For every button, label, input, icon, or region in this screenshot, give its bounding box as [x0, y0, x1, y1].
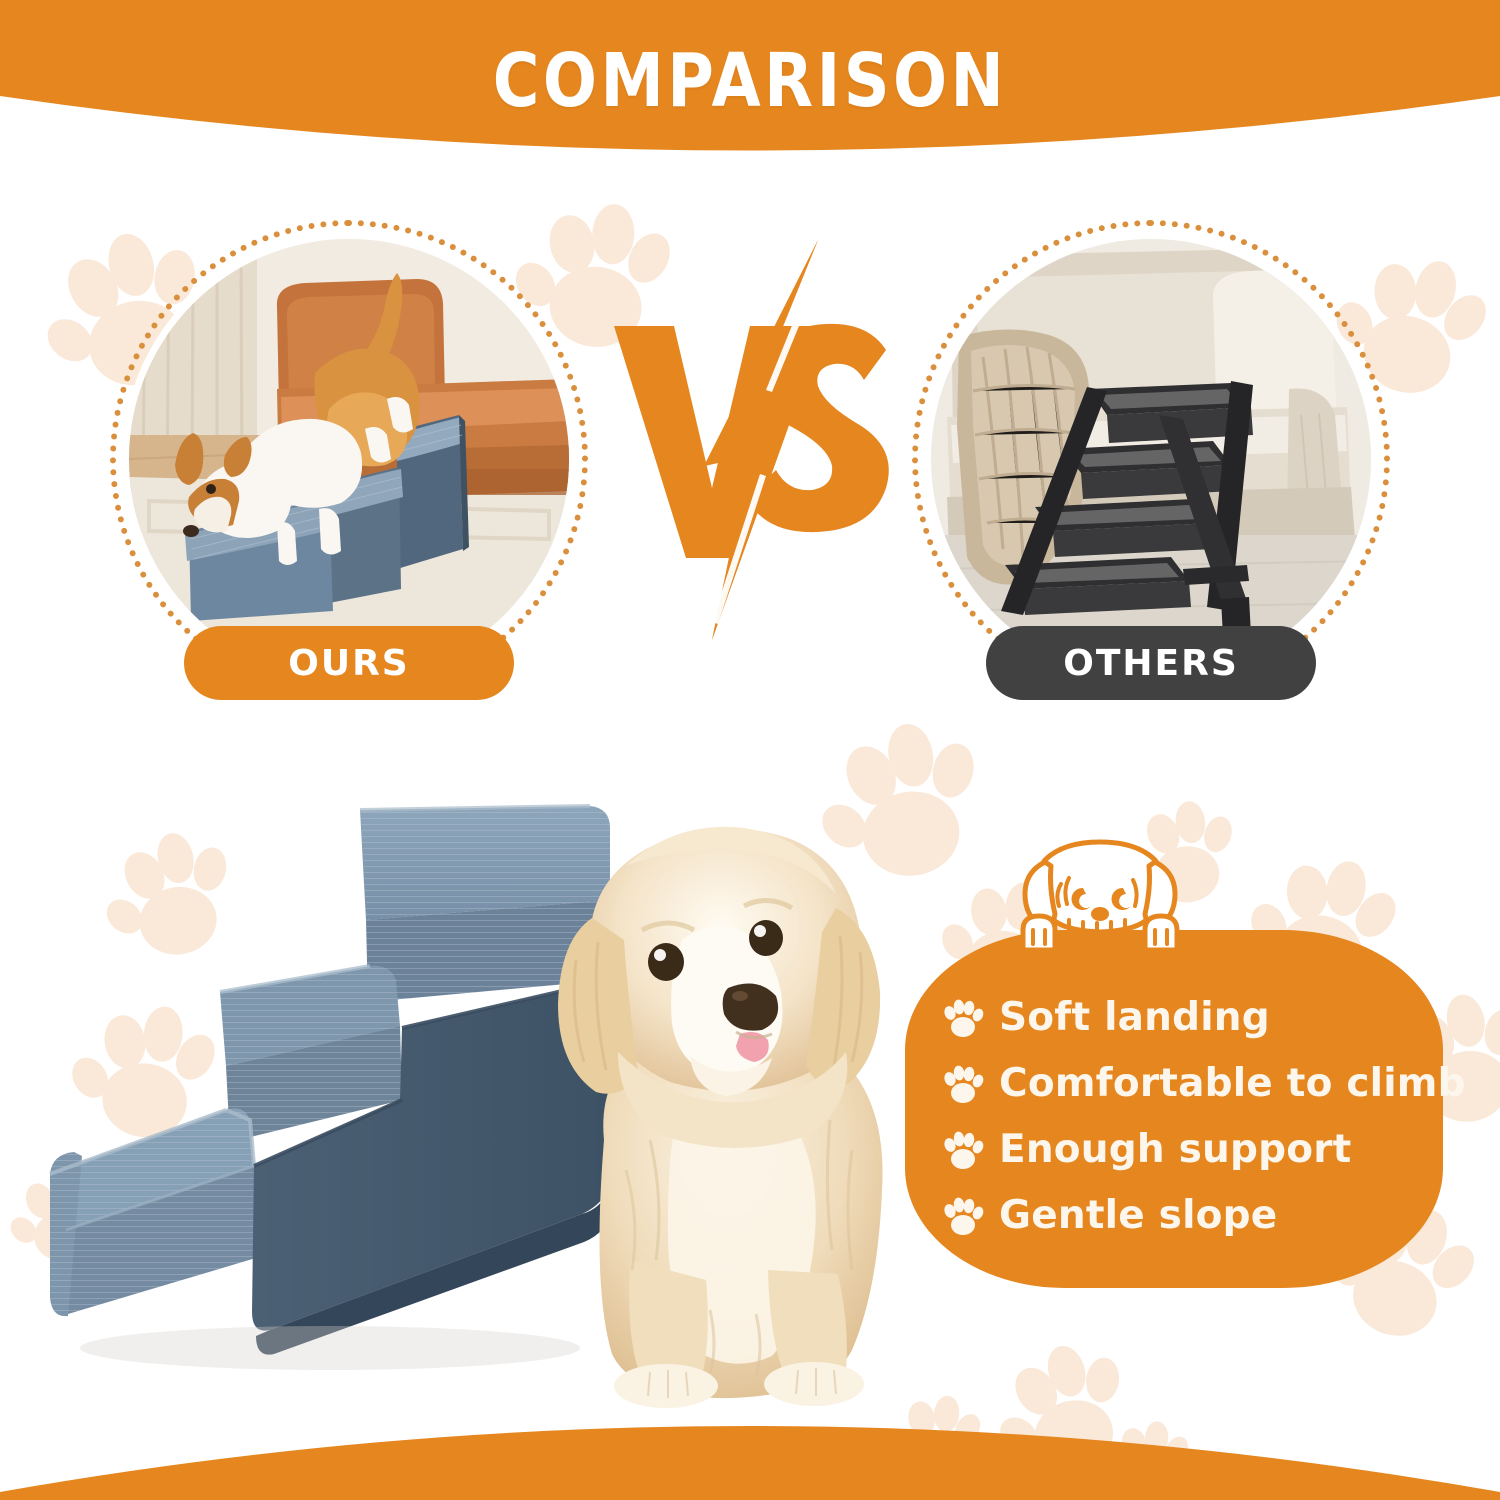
- comparison-card-ours[interactable]: OURS: [110, 220, 588, 698]
- list-item[interactable]: Soft landing: [941, 984, 1441, 1050]
- infographic-canvas: COMPARISON: [0, 0, 1500, 1500]
- footer-banner: [0, 1370, 1500, 1500]
- versus-icon: [600, 240, 920, 640]
- page-title: COMPARISON: [105, 38, 1395, 124]
- features-panel: Soft landing Comfortable to climb: [905, 930, 1443, 1288]
- feature-label: Gentle slope: [999, 1193, 1277, 1238]
- list-item[interactable]: Gentle slope: [941, 1182, 1441, 1248]
- list-item[interactable]: Enough support: [941, 1116, 1441, 1182]
- ours-photo: [129, 239, 569, 679]
- comparison-card-others[interactable]: OTHERS: [912, 220, 1390, 698]
- paw-print-icon: [941, 995, 985, 1039]
- others-label: OTHERS: [986, 626, 1316, 700]
- feature-label: Soft landing: [999, 995, 1270, 1040]
- peeking-dog-icon: [1005, 832, 1195, 960]
- features-list: Soft landing Comfortable to climb: [941, 984, 1441, 1248]
- list-item[interactable]: Comfortable to climb: [941, 1050, 1441, 1116]
- comparison-section: OURS: [0, 200, 1500, 740]
- ours-label: OURS: [184, 626, 514, 700]
- feature-label: Enough support: [999, 1127, 1352, 1172]
- others-photo: [931, 239, 1371, 679]
- paw-print-icon: [941, 1127, 985, 1171]
- hero-dog-photo: [500, 790, 960, 1430]
- paw-print-icon: [941, 1061, 985, 1105]
- paw-print-icon: [941, 1193, 985, 1237]
- feature-label: Comfortable to climb: [999, 1061, 1466, 1106]
